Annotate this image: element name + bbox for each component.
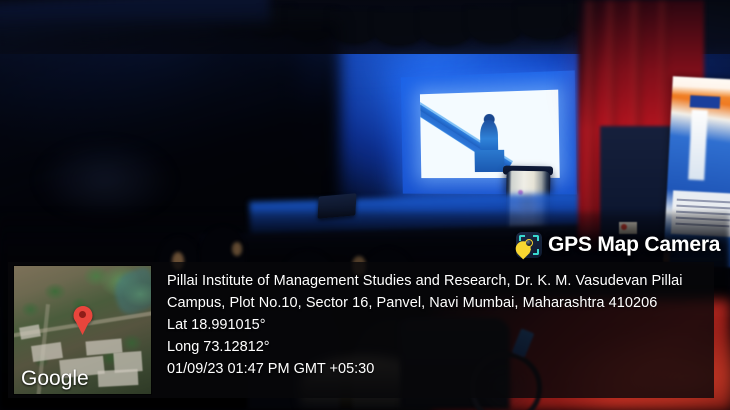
map-pin-icon (73, 306, 92, 325)
location-info-text: Pillai Institute of Management Studies a… (167, 270, 682, 380)
gps-map-camera-title: GPS Map Camera (548, 233, 720, 257)
projected-figure-base (475, 150, 505, 172)
google-attribution: Google (21, 367, 89, 391)
address-line-1: Pillai Institute of Management Studies a… (167, 270, 682, 292)
projected-slide-image (420, 90, 560, 178)
gps-camera-pin-icon (516, 232, 542, 258)
map-thumbnail[interactable]: Google (14, 266, 151, 394)
audience-face-highlight-2 (232, 242, 242, 256)
map-building-6 (98, 369, 139, 387)
gps-info-overlay: Google Pillai Institute of Management St… (8, 262, 714, 398)
gps-map-camera-photo: GPS Map Camera Google Pillai Institute o… (0, 0, 730, 410)
poster-header-band (690, 95, 721, 109)
address-line-2: Campus, Plot No.10, Sector 16, Panvel, N… (167, 292, 682, 314)
latitude-value: Lat 18.991015° (167, 314, 682, 336)
gps-map-camera-watermark: GPS Map Camera (516, 232, 720, 258)
left-wall-faint-glow (35, 140, 175, 220)
longitude-value: Long 73.12812° (167, 336, 682, 358)
timestamp-value: 01/09/23 01:47 PM GMT +05:30 (167, 358, 682, 380)
